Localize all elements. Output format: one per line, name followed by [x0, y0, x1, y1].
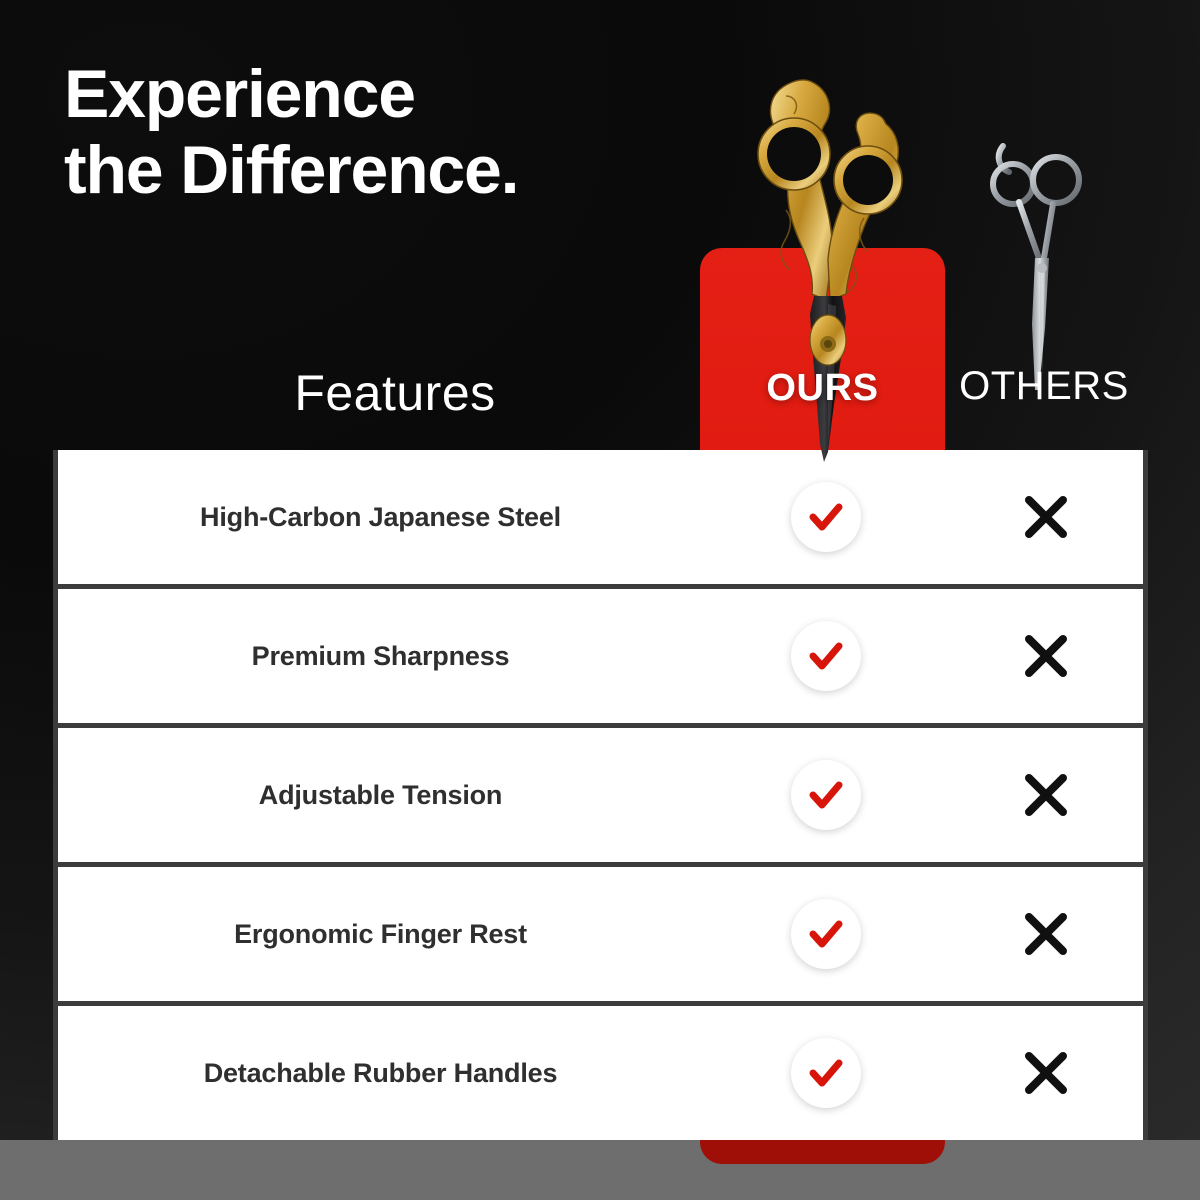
feature-cell: Ergonomic Finger Rest [58, 867, 703, 1001]
cross-icon [1019, 490, 1073, 544]
table-right-border [1143, 450, 1148, 1140]
feature-label: Premium Sharpness [252, 641, 510, 672]
others-cell [948, 867, 1143, 1001]
feature-label: High-Carbon Japanese Steel [200, 502, 561, 533]
ours-cell [703, 450, 948, 584]
column-header-others: OTHERS [945, 364, 1143, 409]
comparison-table: High-Carbon Japanese Steel Premium Sharp… [53, 450, 1143, 1140]
feature-cell: Premium Sharpness [58, 589, 703, 723]
table-row: Ergonomic Finger Rest [58, 867, 1143, 1001]
check-icon [791, 1038, 861, 1108]
table-row: Premium Sharpness [58, 589, 1143, 723]
others-cell [948, 1006, 1143, 1140]
check-icon [791, 899, 861, 969]
others-cell [948, 450, 1143, 584]
ours-cell [703, 728, 948, 862]
plain-silver-scissors-icon [985, 128, 1100, 398]
cross-icon [1019, 629, 1073, 683]
ours-cell [703, 867, 948, 1001]
bottom-grey-band [0, 1140, 1200, 1200]
feature-label: Detachable Rubber Handles [204, 1058, 558, 1089]
feature-cell: Detachable Rubber Handles [58, 1006, 703, 1140]
others-cell [948, 589, 1143, 723]
column-header-features: Features [180, 364, 610, 422]
table-row: Detachable Rubber Handles [58, 1006, 1143, 1140]
page-title: Experience the Difference. [64, 56, 518, 208]
feature-label: Adjustable Tension [259, 780, 502, 811]
feature-cell: Adjustable Tension [58, 728, 703, 862]
cross-icon [1019, 907, 1073, 961]
table-row: Adjustable Tension [58, 728, 1143, 862]
feature-label: Ergonomic Finger Rest [234, 919, 527, 950]
table-row: High-Carbon Japanese Steel [58, 450, 1143, 584]
cross-icon [1019, 1046, 1073, 1100]
others-cell [948, 728, 1143, 862]
ours-cell [703, 589, 948, 723]
ours-cell [703, 1006, 948, 1140]
check-icon [791, 760, 861, 830]
feature-cell: High-Carbon Japanese Steel [58, 450, 703, 584]
check-icon [791, 621, 861, 691]
check-icon [791, 482, 861, 552]
cross-icon [1019, 768, 1073, 822]
column-header-ours: OURS [700, 367, 945, 410]
infographic-canvas: Experience the Difference. [0, 0, 1200, 1200]
